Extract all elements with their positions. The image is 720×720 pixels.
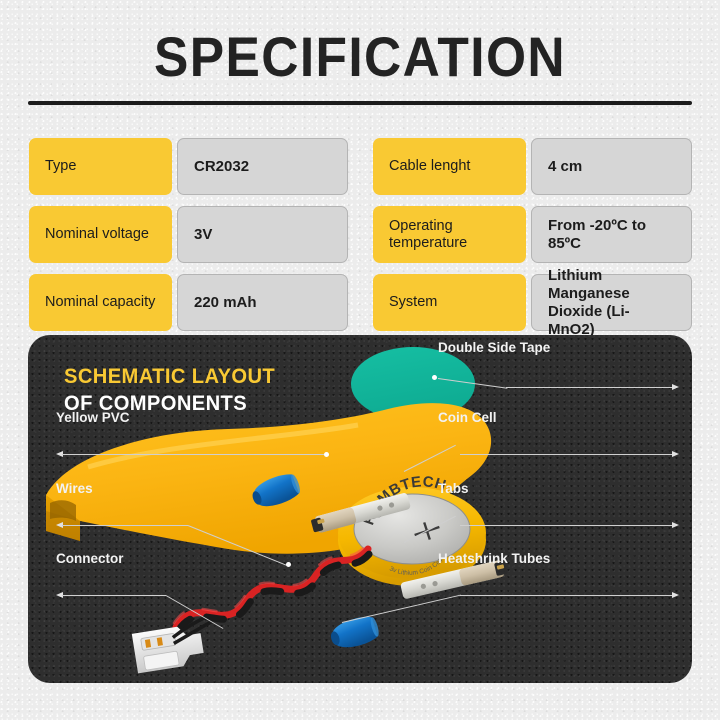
leader-endpoint (324, 452, 329, 457)
leader-arrow-icon (672, 451, 679, 457)
spec-key: Nominal voltage (29, 206, 172, 263)
callout-label: Connector (56, 551, 124, 567)
leader-endpoint (286, 562, 291, 567)
callout-label: Double Side Tape (438, 340, 550, 356)
spec-key: Type (29, 138, 172, 195)
leader-line (460, 525, 674, 526)
spec-value: Lithium Manganese Dioxide (Li-MnO2) (531, 274, 692, 331)
spec-value: CR2032 (177, 138, 348, 195)
callout-label: Wires (56, 481, 93, 497)
spec-column-right: Cable lenght 4 cm Operating temperature … (373, 138, 692, 331)
leader-line (460, 595, 674, 596)
spec-row: Type CR2032 (29, 138, 348, 195)
leader-line (506, 387, 674, 388)
spec-value: 3V (177, 206, 348, 263)
spec-value: 220 mAh (177, 274, 348, 331)
spec-row: System Lithium Manganese Dioxide (Li-MnO… (373, 274, 692, 331)
spec-key: Cable lenght (373, 138, 526, 195)
spec-value: 4 cm (531, 138, 692, 195)
leader-arrow-icon (672, 384, 679, 390)
spec-column-left: Type CR2032 Nominal voltage 3V Nominal c… (29, 138, 348, 331)
callout-label: Yellow PVC (56, 410, 130, 426)
leader-endpoint (432, 375, 437, 380)
schematic-panel: SCHEMATIC LAYOUT OF COMPONENTS (28, 335, 692, 683)
leader-line (62, 454, 326, 455)
leader-line (460, 454, 674, 455)
spec-row: Operating temperature From -20ºC to 85ºC (373, 206, 692, 263)
leader-arrow-icon (672, 522, 679, 528)
spec-value: From -20ºC to 85ºC (531, 206, 692, 263)
leader-arrow-icon (672, 592, 679, 598)
leader-line (62, 525, 188, 526)
page-title: SPECIFICATION (29, 26, 691, 88)
callout-label: Heatshrink Tubes (438, 551, 550, 567)
callout-label: Coin Cell (438, 410, 497, 426)
spec-key: Nominal capacity (29, 274, 172, 331)
spec-key: Operating temperature (373, 206, 526, 263)
title-divider (28, 101, 692, 105)
spec-row: Nominal voltage 3V (29, 206, 348, 263)
callout-label: Tabs (438, 481, 469, 497)
spec-row: Nominal capacity 220 mAh (29, 274, 348, 331)
specification-table: Type CR2032 Nominal voltage 3V Nominal c… (29, 138, 692, 331)
spec-key: System (373, 274, 526, 331)
wires-graphic (174, 545, 370, 679)
spec-row: Cable lenght 4 cm (373, 138, 692, 195)
leader-line (62, 595, 166, 596)
